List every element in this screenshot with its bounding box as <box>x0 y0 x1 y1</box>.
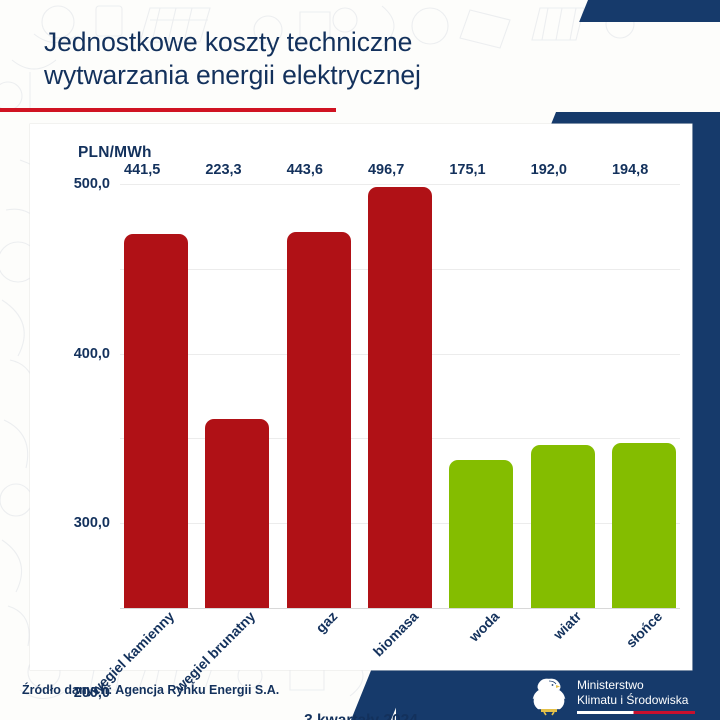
ministry-name-line-2: Klimatu i Środowiska <box>577 693 695 708</box>
navy-accent-top <box>579 0 720 22</box>
bar-column: 223,3 <box>205 184 269 608</box>
bar: 443,6 <box>287 232 351 608</box>
bar-column: 175,1 <box>449 184 513 608</box>
bars-group: 441,5223,3443,6496,7175,1192,0194,8 <box>120 184 680 608</box>
bar-value-label: 223,3 <box>205 162 241 178</box>
y-axis-tick-label: 400,0 <box>74 346 110 362</box>
y-axis-unit-label: PLN/MWh <box>78 144 152 162</box>
ministry-logo-text: Ministerstwo Klimatu i Środowiska <box>577 678 695 715</box>
bar-value-label: 496,7 <box>368 162 404 178</box>
plot-area: 0,0100,0200,0300,0400,0500,0 441,5223,34… <box>120 184 680 608</box>
chart-card: PLN/MWh 0,0100,0200,0300,0400,0500,0 441… <box>30 124 692 670</box>
bar-column: 194,8 <box>612 184 676 608</box>
title-line-1: Jednostkowe koszty techniczne <box>44 26 604 59</box>
infographic-poster: Jednostkowe koszty techniczne wytwarzani… <box>0 0 720 720</box>
polish-eagle-emblem-icon <box>530 676 568 716</box>
y-axis-tick-label: 300,0 <box>74 515 110 531</box>
bar-value-label: 441,5 <box>124 162 160 178</box>
bar-column: 496,7 <box>368 184 432 608</box>
x-axis-category-label: węgiel brunatny <box>172 608 259 695</box>
ministry-logo: Ministerstwo Klimatu i Środowiska <box>530 676 695 716</box>
bar: 223,3 <box>205 419 269 608</box>
bar: 175,1 <box>449 460 513 608</box>
navy-accent-right-column <box>692 112 720 674</box>
x-axis-category-label: słońce <box>623 608 666 651</box>
bar: 496,7 <box>368 187 432 608</box>
x-axis-category-label: wiatr <box>550 608 584 642</box>
x-axis-category-label: biomasa <box>370 608 421 659</box>
bar-value-label: 175,1 <box>449 162 485 178</box>
poster-title: Jednostkowe koszty techniczne wytwarzani… <box>44 26 604 92</box>
bar-column: 192,0 <box>531 184 595 608</box>
bar-value-label: 194,8 <box>612 162 648 178</box>
ministry-logo-rule <box>577 711 695 714</box>
bar-column: 443,6 <box>287 184 351 608</box>
source-note: Źródło danych: Agencja Rynku Energii S.A… <box>22 683 279 697</box>
x-axis-category-label: gaz <box>312 608 340 636</box>
bar-value-label: 192,0 <box>531 162 567 178</box>
bar: 194,8 <box>612 443 676 608</box>
bar: 192,0 <box>531 445 595 608</box>
x-axis-category-label: woda <box>466 608 503 645</box>
bar: 441,5 <box>124 234 188 608</box>
ministry-name-line-1: Ministerstwo <box>577 678 695 693</box>
title-line-2: wytwarzania energii elektrycznej <box>44 59 604 92</box>
bar-column: 441,5 <box>124 184 188 608</box>
bar-value-label: 443,6 <box>287 162 323 178</box>
category-labels-group: węgiel kamiennywęgiel brunatnygazbiomasa… <box>120 608 680 668</box>
y-axis-tick-label: 500,0 <box>74 176 110 192</box>
title-underline-rule <box>0 108 336 112</box>
